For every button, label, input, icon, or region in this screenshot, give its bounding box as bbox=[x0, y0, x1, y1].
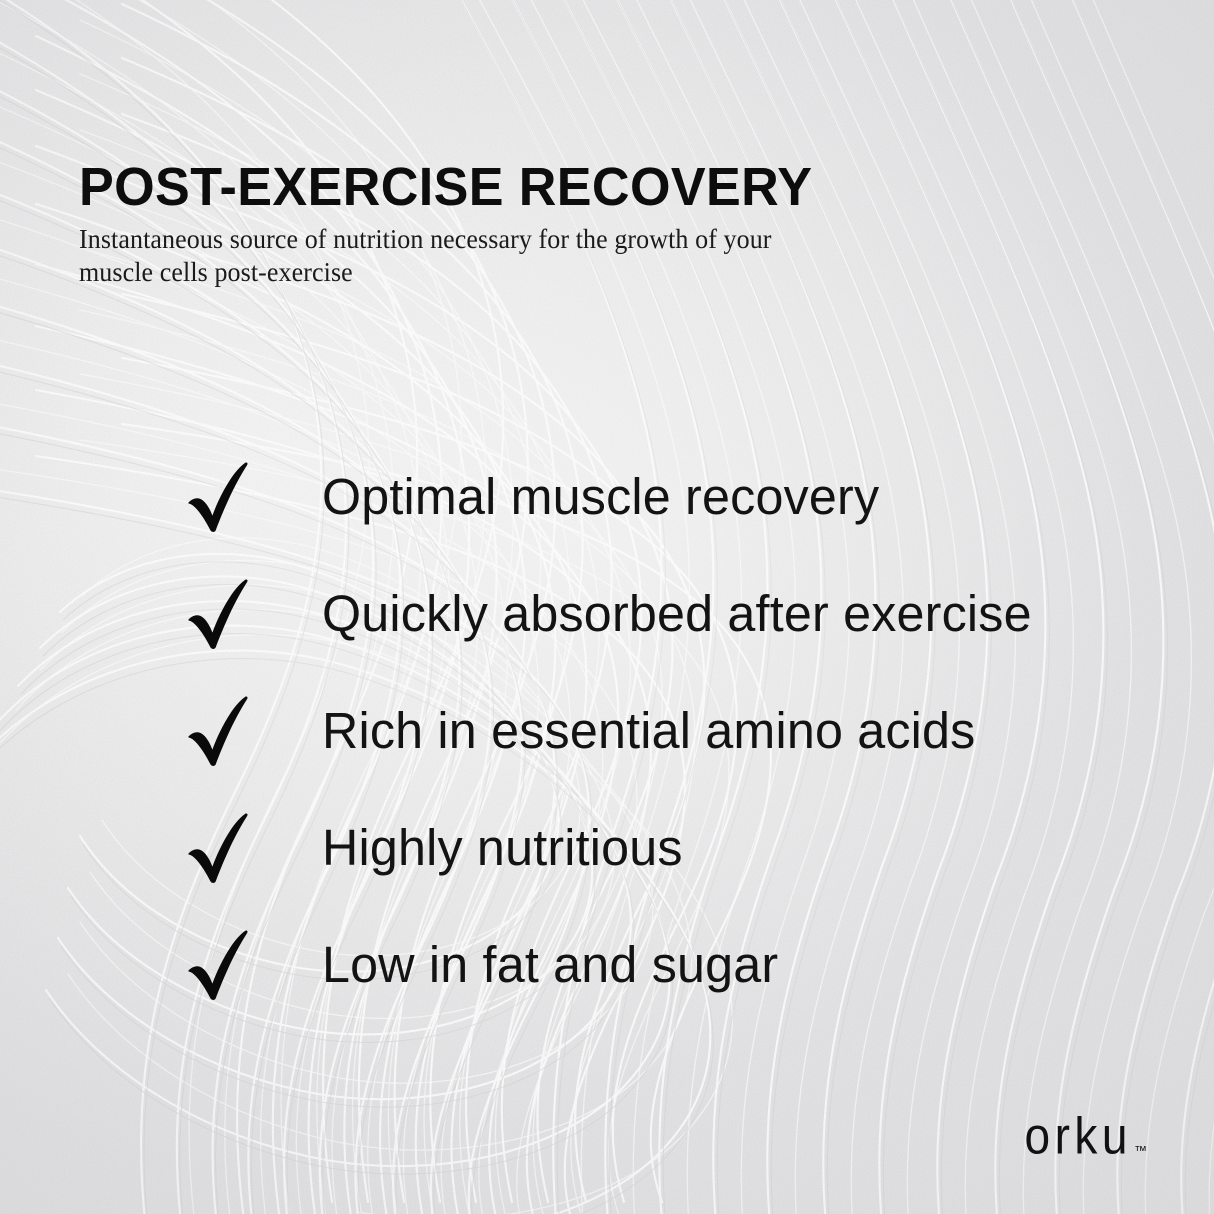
page-subtitle-line-1: Instantaneous source of nutrition necess… bbox=[79, 222, 930, 255]
page-subtitle-line-2: muscle cells post-exercise bbox=[79, 255, 930, 288]
benefit-item: Quickly absorbed after exercise bbox=[186, 555, 1146, 672]
checkmark-icon bbox=[186, 578, 250, 650]
checkmark-icon bbox=[186, 461, 250, 533]
trademark-symbol: ™ bbox=[1134, 1144, 1147, 1157]
benefit-label: Optimal muscle recovery bbox=[322, 469, 879, 525]
benefit-item: Rich in essential amino acids bbox=[186, 672, 1146, 789]
brand-logo: orku ™ bbox=[1025, 1117, 1147, 1159]
benefit-label: Highly nutritious bbox=[322, 820, 683, 876]
benefit-item: Highly nutritious bbox=[186, 789, 1146, 906]
checkmark-icon bbox=[186, 812, 250, 884]
brand-wordmark: orku bbox=[1025, 1112, 1132, 1159]
benefit-label: Quickly absorbed after exercise bbox=[322, 586, 1032, 642]
page-title: POST-EXERCISE RECOVERY bbox=[79, 159, 812, 215]
checkmark-icon bbox=[186, 695, 250, 767]
benefit-item: Low in fat and sugar bbox=[186, 906, 1146, 1023]
page-subtitle: Instantaneous source of nutrition necess… bbox=[79, 222, 930, 288]
checkmark-icon bbox=[186, 929, 250, 1001]
benefit-item: Optimal muscle recovery bbox=[186, 438, 1146, 555]
promo-graphic: POST-EXERCISE RECOVERY Instantaneous sou… bbox=[0, 0, 1214, 1214]
benefit-label: Low in fat and sugar bbox=[322, 937, 778, 993]
benefits-list: Optimal muscle recovery Quickly absorbed… bbox=[186, 438, 1146, 1023]
benefit-label: Rich in essential amino acids bbox=[322, 703, 976, 759]
